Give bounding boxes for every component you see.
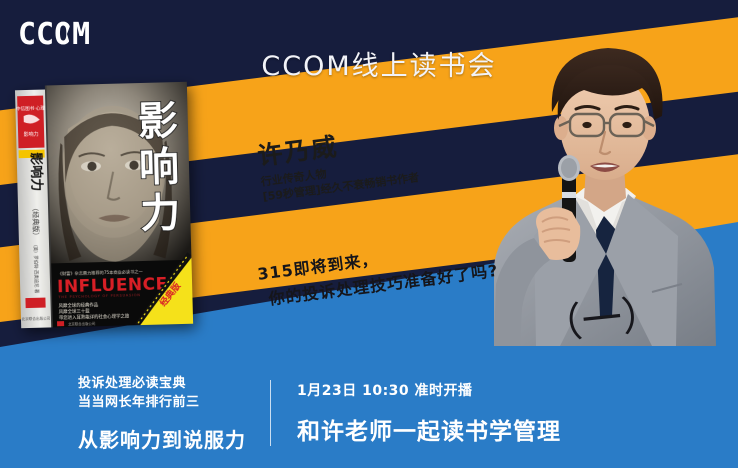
svg-text:北京联合出版公司: 北京联合出版公司	[22, 315, 51, 321]
vertical-divider	[270, 380, 271, 446]
bottom-left-block: 投诉处理必读宝典 当当网长年排行前三 从影响力到说服力	[0, 374, 248, 453]
svg-text:响: 响	[138, 144, 179, 191]
page-title: CCOM线上读书会	[0, 44, 738, 83]
svg-text:影响力: 影响力	[24, 131, 39, 138]
bottom-info-bar: 投诉处理必读宝典 当当网长年排行前三 从影响力到说服力 1月23日 10:30 …	[0, 358, 738, 468]
bottom-right-headline: 和许老师一起读书学管理	[297, 412, 561, 446]
svg-text:影响力: 影响力	[28, 152, 45, 191]
book-cover: 中信图书·心理 影响力 影响力 （经典版） （美）罗伯特·西奥迪尼 著 北京联合…	[15, 82, 193, 328]
bottom-right-block: 1月23日 10:30 准时开播 和许老师一起读书学管理	[297, 380, 561, 446]
svg-text:力: 力	[140, 190, 181, 237]
bottom-left-headline: 从影响力到说服力	[78, 424, 248, 453]
episode-label: （一）	[540, 294, 664, 346]
poster-canvas: 中信图书·心理 影响力 影响力 （经典版） （美）罗伯特·西奥迪尼 著 北京联合…	[0, 0, 738, 468]
bottom-left-line-1: 投诉处理必读宝典	[78, 374, 248, 394]
bottom-left-line-2: 当当网长年排行前三	[78, 393, 248, 413]
svg-text:（经典版）: （经典版）	[31, 204, 41, 239]
svg-text:北京联合出版公司: 北京联合出版公司	[68, 321, 95, 327]
svg-text:影: 影	[137, 98, 178, 145]
schedule-text: 1月23日 10:30 准时开播	[297, 380, 561, 400]
